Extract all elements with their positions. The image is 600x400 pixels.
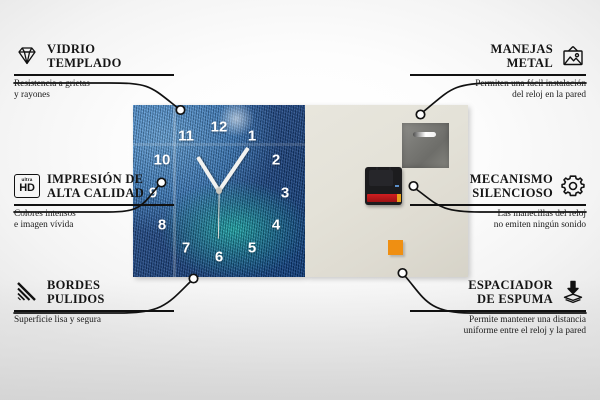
feature-description: Colores intensos e imagen vívida	[14, 209, 174, 232]
feature-title: IMPRESIÓN DE ALTA CALIDAD	[47, 172, 144, 200]
feature-rule	[410, 310, 586, 312]
mechanism-label-dot	[395, 185, 399, 187]
diamond-icon	[14, 43, 40, 69]
clock-numeral-2: 2	[272, 153, 280, 168]
hanger-slot	[413, 132, 436, 137]
clock-center-cap	[216, 188, 222, 194]
polished-edge-lines-icon	[14, 279, 40, 305]
clock-numeral-10: 10	[154, 153, 171, 168]
foam-spacer-pad	[388, 240, 403, 255]
feature-description: Superficie lisa y segura	[14, 315, 174, 326]
clock-numeral-4: 4	[272, 218, 280, 233]
feature-rule	[14, 204, 174, 206]
battery-terminal	[397, 194, 401, 202]
feature-rule	[410, 74, 586, 76]
mechanism-body	[369, 170, 393, 186]
ultra-hd-badge-icon: ultra HD	[14, 174, 40, 198]
feature-description: Las manecillas del reloj no emiten ningú…	[410, 209, 586, 232]
clock-numeral-3: 3	[281, 186, 289, 201]
feature-title: VIDRIO TEMPLADO	[47, 42, 122, 70]
feature-description: Permiten una fácil instalación del reloj…	[410, 79, 586, 102]
clock-numeral-1: 1	[248, 129, 256, 144]
feature-rule	[14, 74, 174, 76]
clock-numeral-5: 5	[248, 241, 256, 256]
clock-mechanism-unit	[365, 167, 402, 205]
metal-hanger-plate	[402, 123, 449, 168]
mechanism-battery	[367, 194, 398, 202]
clock-numeral-11: 11	[178, 129, 194, 144]
clock-numeral-7: 7	[182, 241, 190, 256]
infographic-canvas: 12 1 2 3 4 5 6 7 8 9 10 11	[0, 0, 600, 400]
feature-title: MECANISMO SILENCIOSO	[470, 172, 553, 200]
feature-title: MANEJAS METAL	[490, 42, 553, 70]
feature-description: Resistencia a grietas y rayones	[14, 79, 174, 102]
feature-bordes-pulidos: BORDES PULIDOS Superficie lisa y segura	[14, 278, 174, 326]
feature-mecanismo-silencioso: MECANISMO SILENCIOSO Las manecillas del …	[410, 172, 586, 231]
feature-manejas-metal: MANEJAS METAL Permiten una fácil instala…	[410, 42, 586, 101]
clock-numeral-6: 6	[215, 250, 223, 265]
feature-espaciador-espuma: ESPACIADOR DE ESPUMA Permite mantener un…	[410, 278, 586, 337]
feature-vidrio-templado: VIDRIO TEMPLADO Resistencia a grietas y …	[14, 42, 174, 101]
feature-description: Permite mantener una distancia uniforme …	[410, 315, 586, 338]
feature-title: ESPACIADOR DE ESPUMA	[468, 278, 553, 306]
gear-icon	[560, 173, 586, 199]
foam-spacer-arrow-icon	[560, 279, 586, 305]
feature-rule	[410, 204, 586, 206]
badge-hd-label: HD	[19, 183, 35, 194]
picture-frame-hanger-icon	[560, 43, 586, 69]
feature-impresion-alta-calidad: ultra HD IMPRESIÓN DE ALTA CALIDAD Color…	[14, 172, 174, 231]
feature-rule	[14, 310, 174, 312]
feature-title: BORDES PULIDOS	[47, 278, 105, 306]
clock-numeral-12: 12	[211, 120, 228, 135]
